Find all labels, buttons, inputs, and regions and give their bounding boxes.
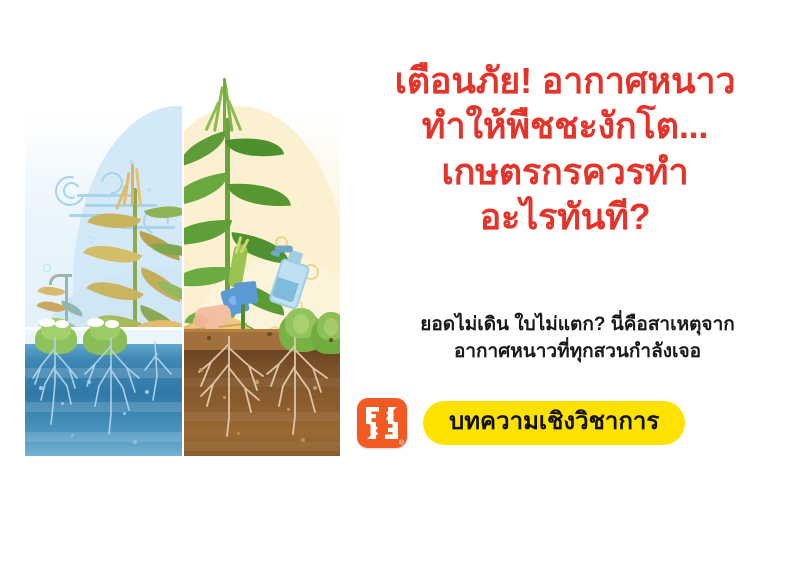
pale-roots <box>25 336 182 456</box>
poster-root: เตือนภัย! อากาศหนาว ทำให้พืชชะงักโต... เ… <box>0 0 800 565</box>
page-title: เตือนภัย! อากาศหนาว ทำให้พืชชะงักโต... เ… <box>345 58 785 239</box>
panel-divider <box>182 68 184 456</box>
headline-line-4: อะไรทันที? <box>345 194 785 239</box>
fk-logo-icon: ® <box>357 398 407 448</box>
headline-line-1: เตือนภัย! อากาศหนาว <box>345 58 785 103</box>
subtitle-line-2: อากาศหนาวที่ทุกสวนกำลังเจอ <box>370 339 785 366</box>
subtitle: ยอดไม่เดิน ใบไม่แตก? นี่คือสาเหตุจาก อาก… <box>370 312 785 366</box>
status-badge[interactable]: บทความเชิงวิชาการ <box>423 401 685 445</box>
strong-roots <box>183 336 340 456</box>
headline-line-3: เกษตรกรควรทำ <box>345 149 785 194</box>
subtitle-line-1: ยอดไม่เดิน ใบไม่แตก? นี่คือสาเหตุจาก <box>370 312 785 339</box>
illustration <box>25 68 340 456</box>
badge-row: ® บทความเชิงวิชาการ <box>357 398 685 448</box>
registered-trademark-icon: ® <box>399 440 404 447</box>
illustration-right-panel-healthy <box>183 68 340 456</box>
headline-line-2: ทำให้พืชชะงักโต... <box>345 103 785 148</box>
illustration-left-panel-cold <box>25 68 182 456</box>
